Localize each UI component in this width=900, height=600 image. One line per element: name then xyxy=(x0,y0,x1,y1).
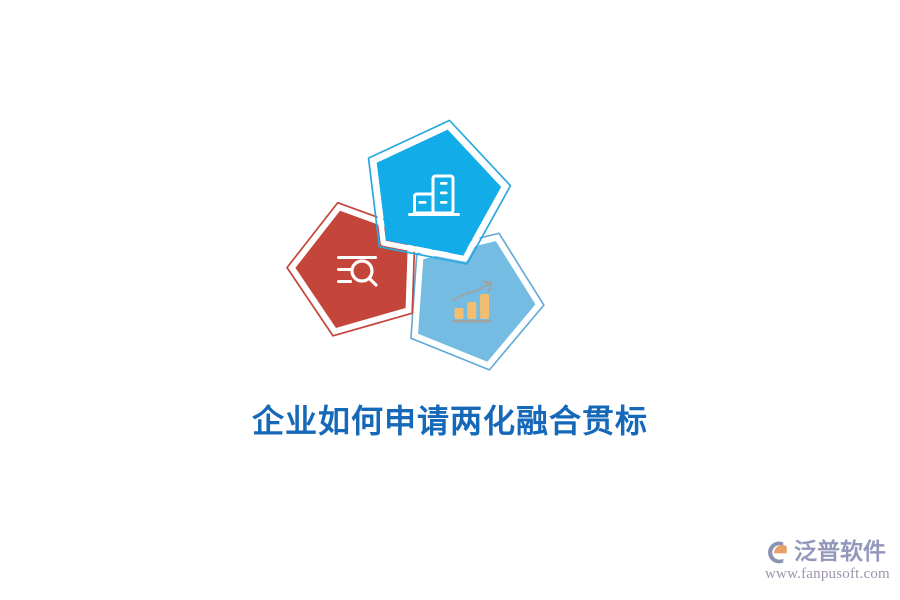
watermark-brand-row: 泛普软件 xyxy=(764,536,892,568)
fanpu-logo-icon xyxy=(764,538,792,566)
watermark: 泛普软件 www.fanpusoft.com xyxy=(764,536,892,588)
page-title: 企业如何申请两化融合贯标 xyxy=(0,396,900,442)
window-3 xyxy=(440,201,448,204)
chart-bar-2 xyxy=(467,302,476,319)
page-canvas: 企业如何申请两化融合贯标 泛普软件 www.fanpusoft.com xyxy=(0,0,900,600)
watermark-brand-text: 泛普软件 xyxy=(794,538,886,566)
window-4 xyxy=(419,201,427,204)
pentagon-cluster-graphic xyxy=(270,110,570,385)
window-2 xyxy=(440,192,448,195)
watermark-url-text: www.fanpusoft.com xyxy=(764,566,892,583)
window-1 xyxy=(440,182,448,185)
chart-bar-1 xyxy=(455,308,464,319)
doc-line-2 xyxy=(337,268,352,271)
doc-line-3 xyxy=(337,280,352,283)
doc-line-1 xyxy=(337,256,377,259)
building-ground xyxy=(408,213,460,216)
chart-bar-3 xyxy=(480,294,489,319)
